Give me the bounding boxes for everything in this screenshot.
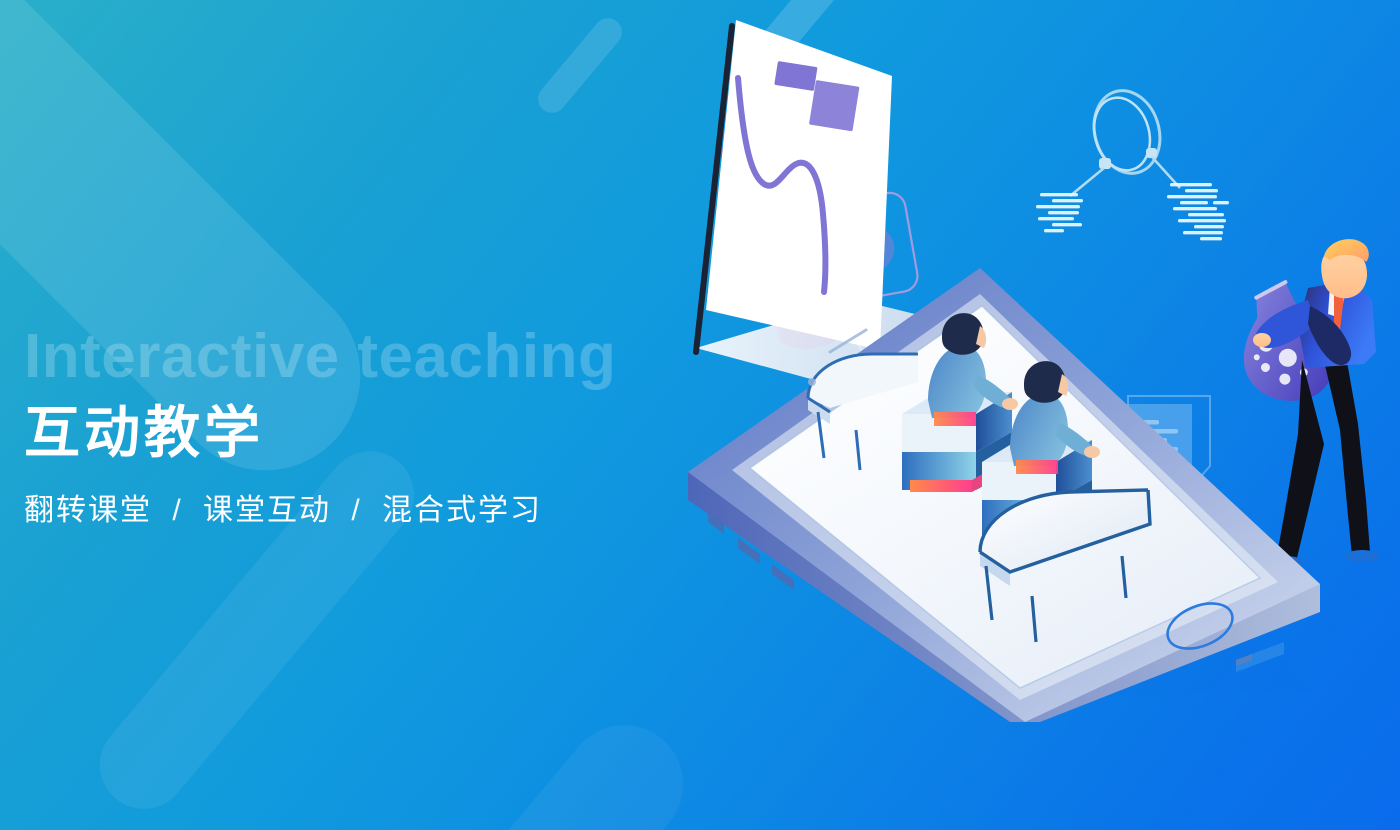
balloon-outline-icon [1070,83,1180,196]
subtitle-separator-2: / [341,494,371,527]
subtitle: 翻转课堂 / 课堂互动 / 混合式学习 [24,485,744,529]
hero-illustration [680,0,1400,830]
subtitle-part-3: 混合式学习 [382,494,542,527]
banner-copy: Interactive teaching 互动教学 翻转课堂 / 课堂互动 / … [24,326,744,529]
subtitle-part-1: 翻转课堂 [24,494,152,527]
subtitle-part-2: 课堂互动 [203,494,331,527]
background-streak-small-1 [532,12,627,118]
ghost-title: Interactive teaching [24,326,744,388]
background-streak-small-4 [347,701,707,830]
interactive-teaching-banner: Interactive teaching 互动教学 翻转课堂 / 课堂互动 / … [0,0,1400,830]
subtitle-separator-1: / [162,494,192,527]
scientist-with-flask [1227,239,1379,568]
text-hatch-left [1036,193,1083,232]
text-hatch-right [1167,183,1229,240]
page-title: 互动教学 [24,404,744,463]
camera-dot [808,378,816,386]
